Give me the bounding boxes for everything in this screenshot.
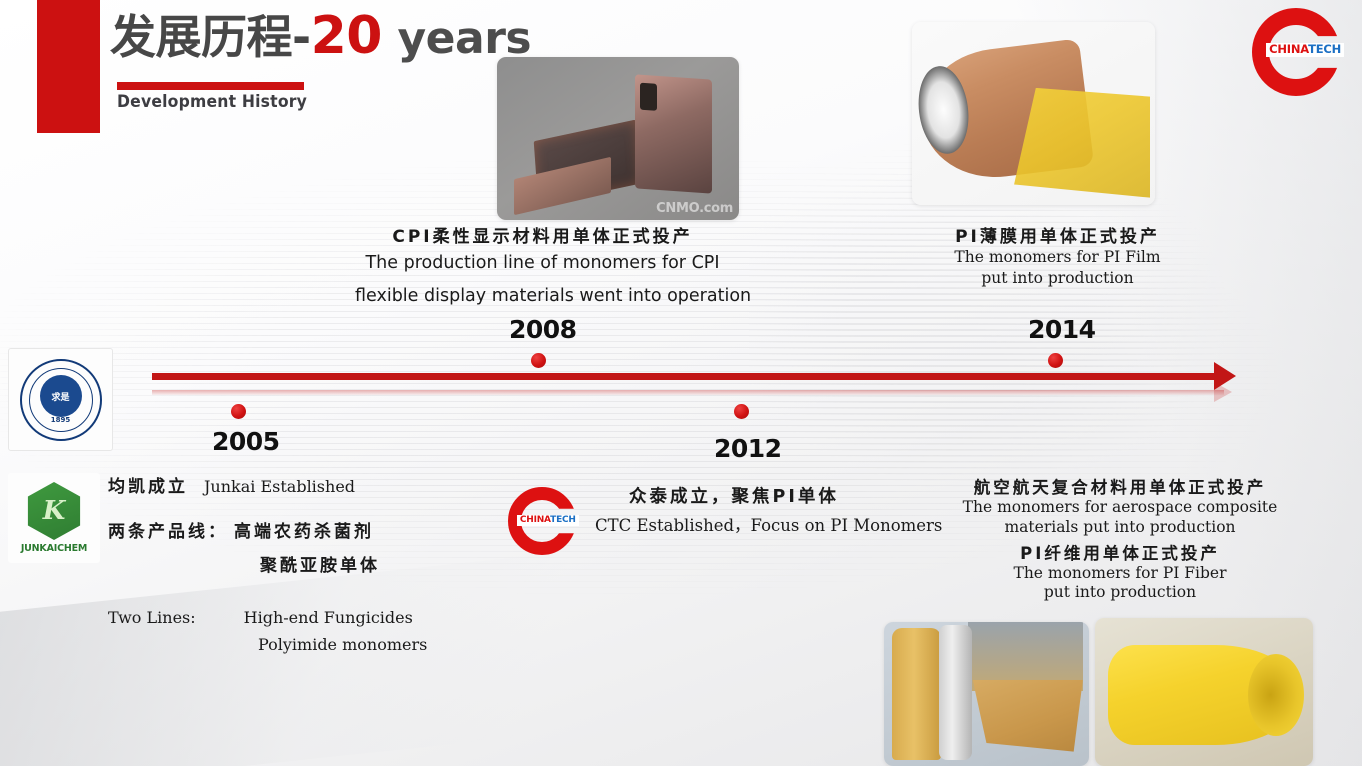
title-underline-rule [117, 82, 304, 90]
university-seal-center: 求是 [40, 375, 82, 417]
aerospace-sheet-shape [968, 680, 1083, 752]
university-founding-year: 1895 [51, 416, 70, 424]
milestone-2012: 众泰成立，聚焦PI单体 CTC Established，Focus on PI … [595, 483, 942, 536]
milestone-2005-title-en: Junkai Established [204, 477, 355, 496]
milestone-2005-line1-cn: 高端农药杀菌剂 [234, 517, 374, 542]
junkaichem-logo: K JUNKAICHEM [8, 473, 100, 563]
milestone-2014-title-en-line1: The monomers for PI Film [925, 247, 1190, 268]
milestone-2005-line2-en: Polyimide monomers [258, 635, 427, 654]
photo-watermark: CNMO.com [656, 201, 733, 216]
university-seal-icon: 求是 1895 [20, 359, 102, 441]
chinatech-logo-china-small: CHINA [520, 515, 550, 525]
milestone-2014-title-cn: PI薄膜用单体正式投产 [925, 222, 1190, 247]
page-subtitle: Development History [117, 92, 307, 112]
photo-aerospace-composite [884, 622, 1089, 766]
fiber-title-cn: PI纤维用单体正式投产 [930, 540, 1310, 564]
milestone-2008-title-cn: CPI柔性显示材料用单体正式投产 [355, 222, 730, 247]
aerospace-tube-shape [892, 628, 941, 760]
chinatech-logo-tech: TECH [1308, 42, 1341, 56]
film-sheet-shape [1014, 88, 1150, 198]
timeline-dot-2005[interactable] [231, 404, 246, 419]
timeline-dot-2008[interactable] [531, 353, 546, 368]
title-text-cn: 发展历程- [110, 10, 311, 64]
milestone-aerospace-fiber: 航空航天复合材料用单体正式投产 The monomers for aerospa… [930, 474, 1310, 603]
chinatech-logo-tech-small: TECH [550, 515, 576, 525]
title-red-block [37, 0, 100, 133]
timeline-year-2012: 2012 [714, 434, 782, 463]
fiber-bag-opening-shape [1248, 654, 1305, 737]
milestone-2005-lines-label-en: Two Lines: [108, 608, 196, 627]
fiber-title-en-line1: The monomers for PI Fiber [930, 564, 1310, 584]
junkai-hexagon-icon: K [25, 482, 83, 540]
chinatech-logo: CHINATECH [1252, 8, 1340, 96]
page-title: 发展历程-20 years [110, 6, 531, 67]
chinatech-logo-timeline: CHINATECH [508, 487, 576, 555]
chinatech-logo-label-small: CHINATECH [517, 515, 579, 526]
milestone-2005-lines-label-cn: 两条产品线： [108, 517, 228, 542]
timeline-axis-reflection [152, 390, 1224, 395]
aerospace-title-en-line2: materials put into production [930, 518, 1310, 538]
timeline-axis-line [152, 373, 1224, 380]
milestone-2012-title-en: CTC Established，Focus on PI Monomers [595, 512, 942, 536]
slide-canvas: 发展历程-20 years Development History CHINAT… [0, 0, 1362, 766]
timeline-year-2005: 2005 [212, 427, 280, 456]
milestone-2008-title-en-line2: flexible display materials went into ope… [355, 280, 730, 313]
aerospace-title-cn: 航空航天复合材料用单体正式投产 [930, 474, 1310, 498]
tianjin-university-logo: 求是 1895 [8, 348, 113, 451]
fiber-title-en-line2: put into production [930, 583, 1310, 603]
milestone-2008-title-en-line1: The production line of monomers for CPI [355, 247, 730, 280]
timeline-dot-2012[interactable] [734, 404, 749, 419]
title-number: 20 [311, 6, 382, 66]
timeline-year-2008: 2008 [509, 315, 577, 344]
photo-pi-fiber-bag [1095, 618, 1313, 766]
milestone-2014: PI薄膜用单体正式投产 The monomers for PI Film put… [925, 222, 1190, 289]
milestone-2005-line1-en: High-end Fungicides [244, 608, 413, 627]
milestone-2014-title-en-line2: put into production [925, 268, 1190, 289]
milestone-2005-title-cn: 均凯成立 [108, 472, 188, 497]
junkai-logo-label: JUNKAICHEM [21, 543, 87, 554]
milestone-2008: CPI柔性显示材料用单体正式投产 The production line of … [355, 222, 730, 314]
milestone-2012-title-cn: 众泰成立，聚焦PI单体 [629, 483, 942, 508]
device-phone-shape [635, 74, 712, 194]
chinatech-logo-label: CHINATECH [1266, 43, 1344, 57]
timeline-year-2014: 2014 [1028, 315, 1096, 344]
milestone-2005: 均凯成立 Junkai Established 两条产品线： 高端农药杀菌剂 聚… [108, 472, 427, 654]
timeline-arrow-reflection-icon [1214, 382, 1232, 402]
timeline-dot-2014[interactable] [1048, 353, 1063, 368]
milestone-2005-line2-cn: 聚酰亚胺单体 [260, 551, 427, 576]
aerospace-tube-secondary-shape [939, 625, 972, 760]
photo-pi-film-roll [912, 22, 1155, 205]
chinatech-logo-china: CHINA [1269, 42, 1308, 56]
photo-flexible-display-device: CNMO.com [497, 57, 739, 220]
aerospace-title-en-line1: The monomers for aerospace composite [930, 498, 1310, 518]
